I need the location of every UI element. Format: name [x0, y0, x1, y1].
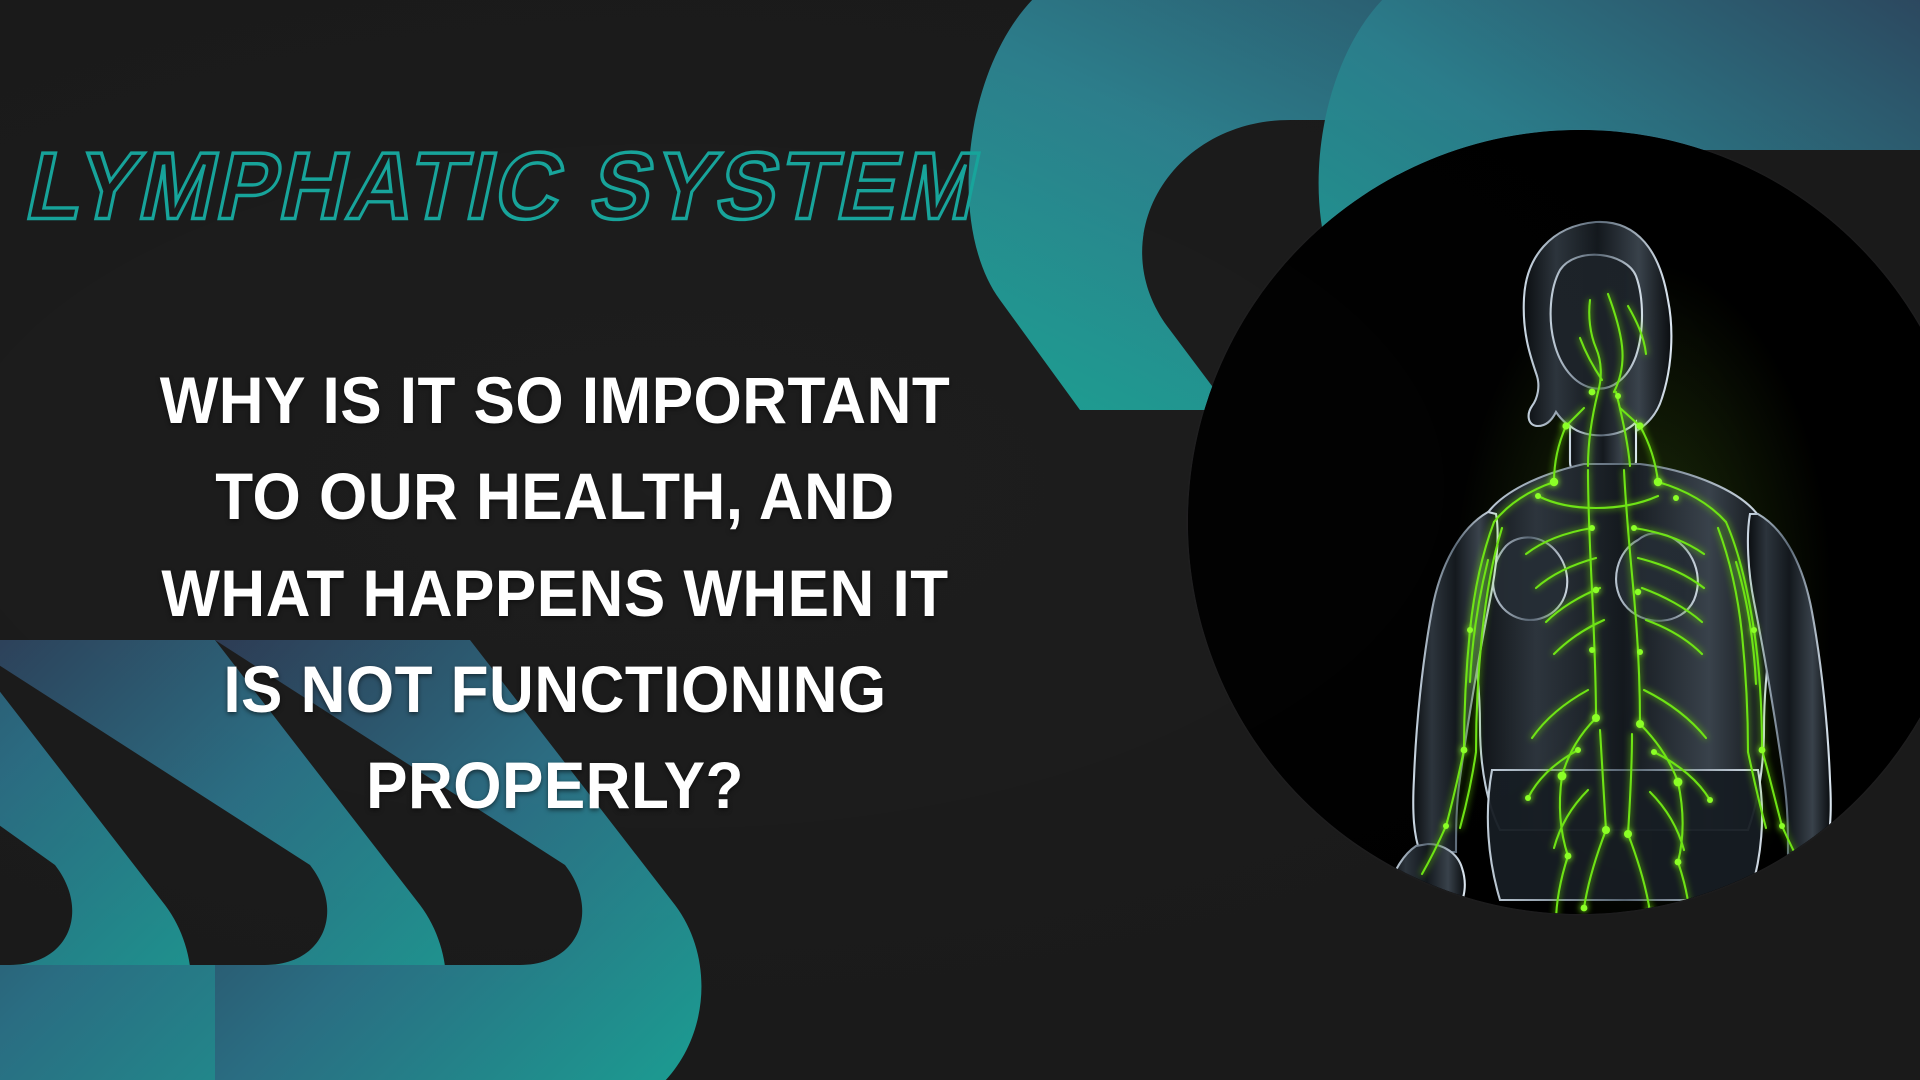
headline-line-1: WHY IS IT SO IMPORTANT — [33, 352, 1076, 448]
page-headline: WHY IS IT SO IMPORTANT TO OUR HEALTH, AN… — [33, 352, 1076, 834]
headline-line-4: IS NOT FUNCTIONING — [33, 641, 1076, 737]
headline-line-2: TO OUR HEALTH, AND — [33, 448, 1076, 544]
hero-disc — [1188, 130, 1920, 914]
hero-image-circle — [1130, 72, 1920, 972]
page-title-eyebrow: LYMPHATIC SYSTEM — [42, 128, 1102, 238]
headline-line-3: WHAT HAPPENS WHEN IT — [33, 545, 1076, 641]
slide-canvas: LYMPHATIC SYSTEM WHY IS IT SO IMPORTANT … — [0, 0, 1920, 1080]
lymphatic-body-illustration — [1188, 130, 1920, 914]
eyebrow-label: LYMPHATIC SYSTEM — [18, 132, 992, 239]
headline-line-5: PROPERLY? — [33, 737, 1076, 833]
